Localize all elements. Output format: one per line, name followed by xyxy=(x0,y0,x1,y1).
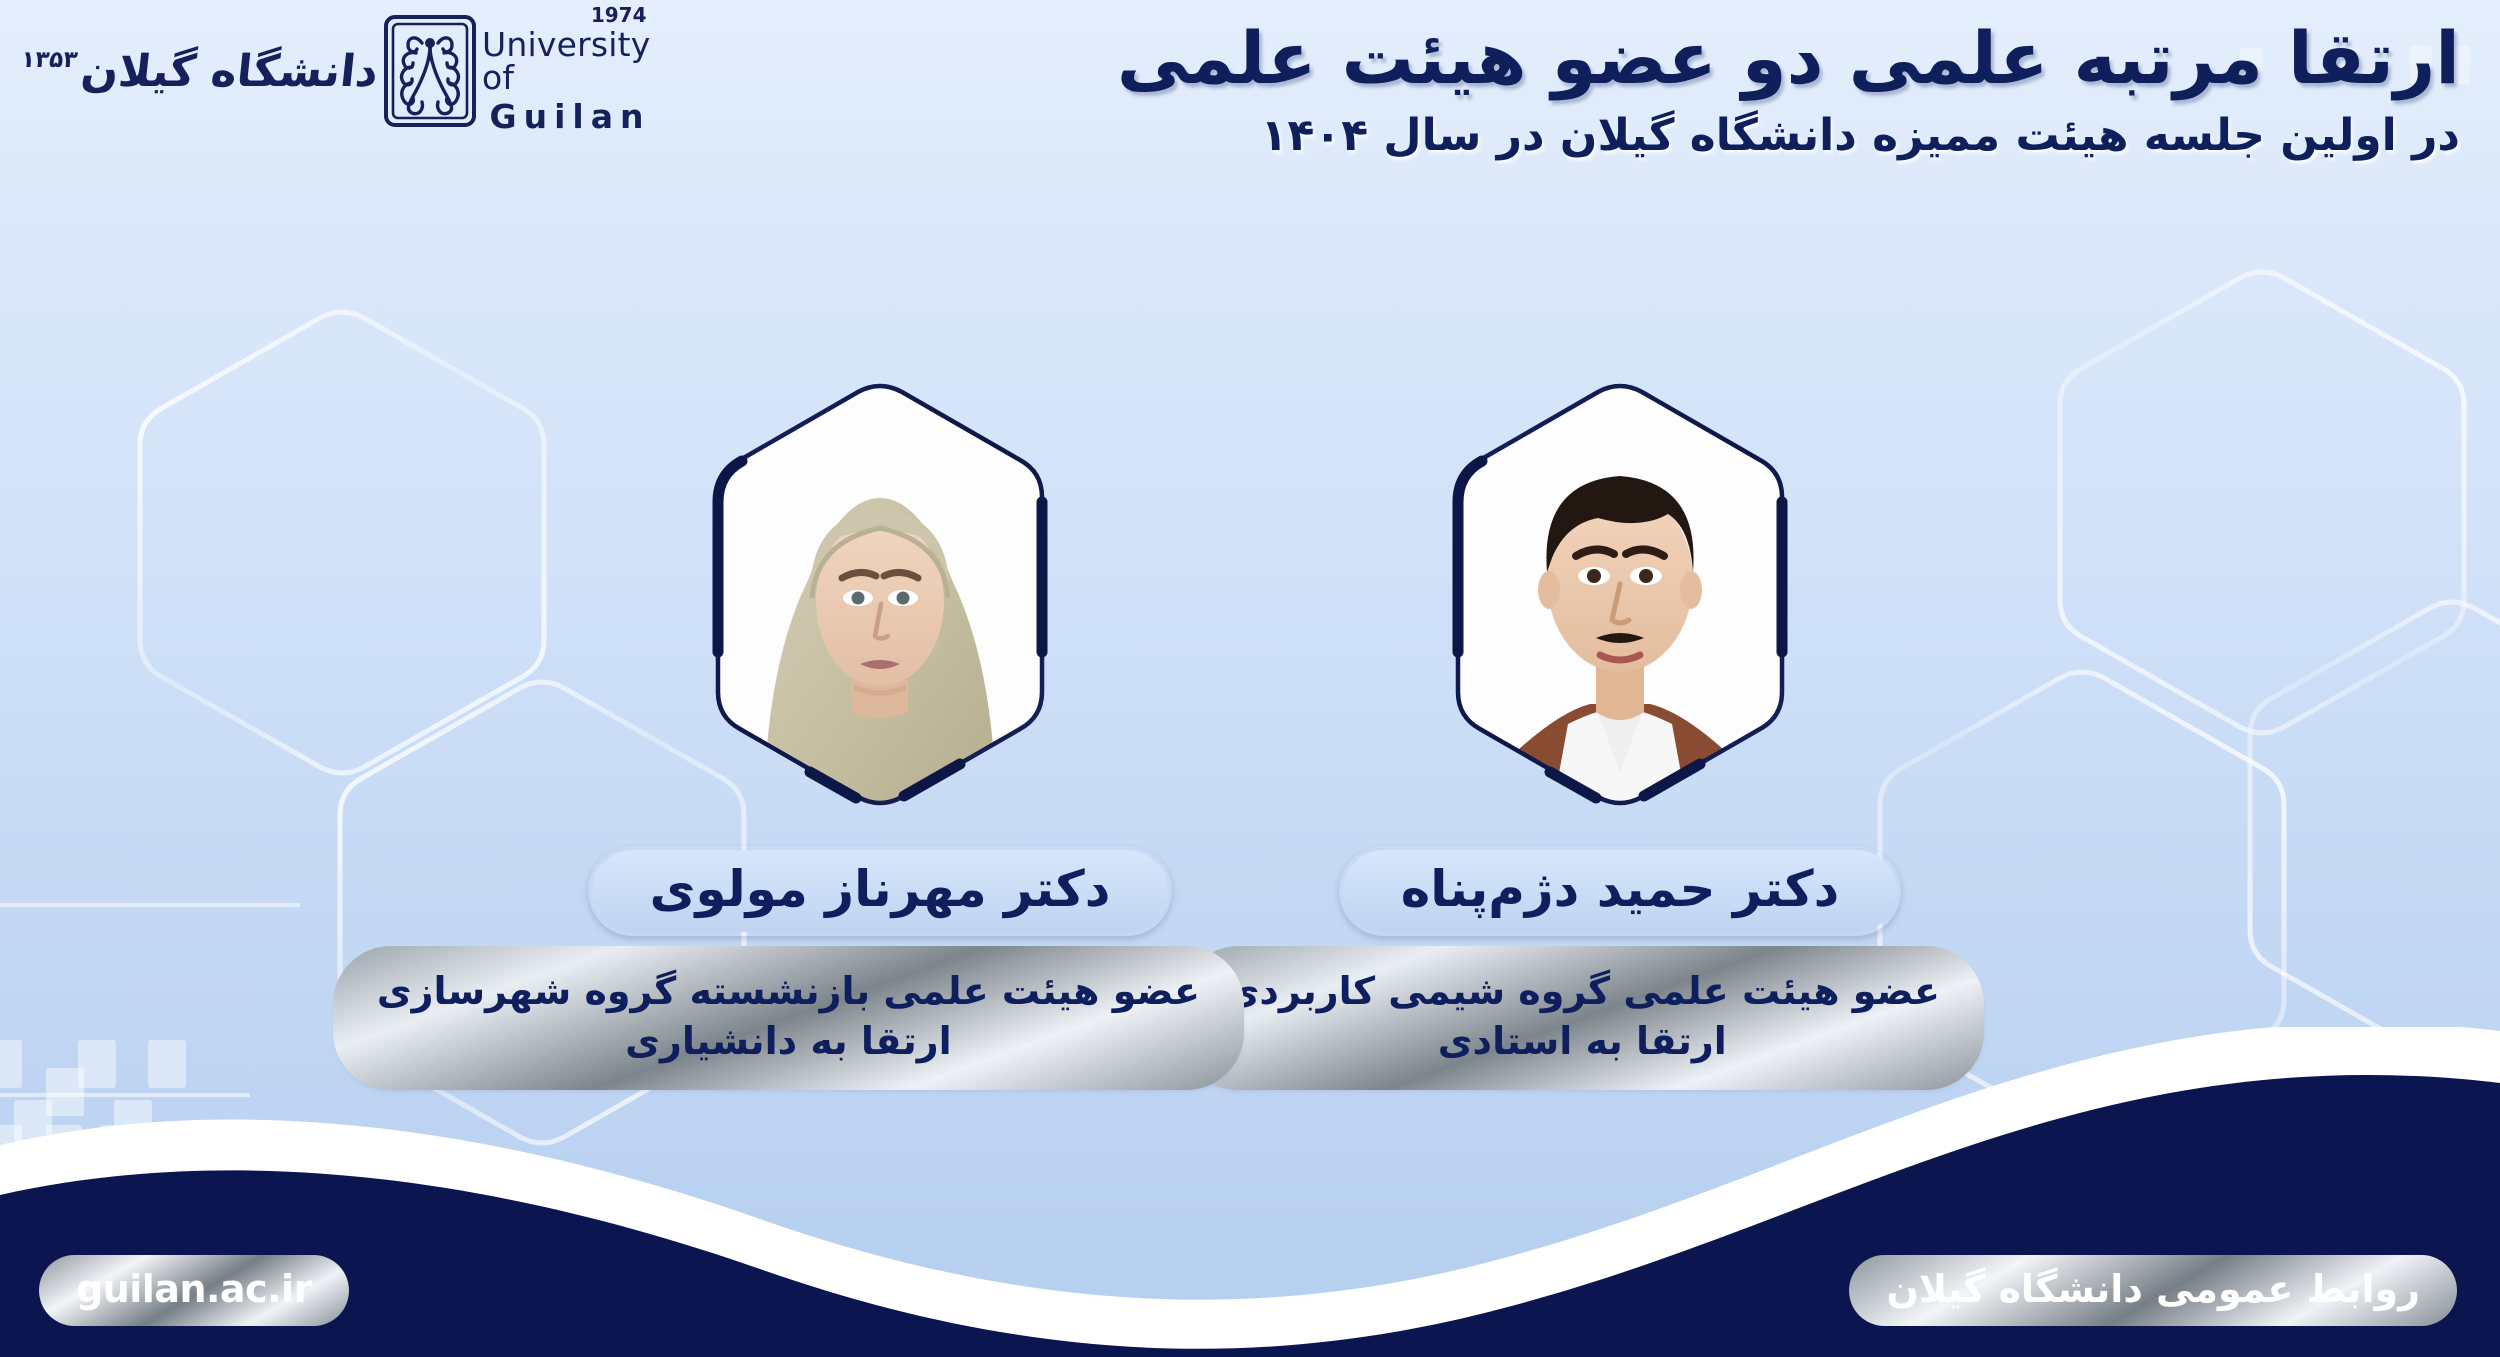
people-section: دکتر حمید دژم‌پناه عضو هیئت علمی گروه شی… xyxy=(0,352,2500,1112)
page-title: ارتقا مرتبه علمی دو عضو هیئت علمی xyxy=(1140,18,2460,99)
logo-english-wordmark: 1974 University of Guilan xyxy=(482,5,650,137)
guilan-emblem-icon xyxy=(382,13,478,129)
page-subtitle: در اولین جلسه هیئت ممیزه دانشگاه گیلان د… xyxy=(1140,111,2460,162)
logo-name-en-line2: Guilan xyxy=(490,100,651,133)
person-card-1: دکتر مهرناز مولوی عضو هیئت علمی بازنشسته… xyxy=(520,352,1240,1086)
hexagon-frame-icon xyxy=(660,352,1100,822)
person-card-0: دکتر حمید دژم‌پناه عضو هیئت علمی گروه شی… xyxy=(1260,352,1980,1086)
hexagon-frame-icon xyxy=(1400,352,1840,822)
poster-canvas: دانشگاه گیلان ۱۳۵۳ 1974 Univ xyxy=(0,0,2500,1357)
person-role-line1-1: عضو هیئت علمی بازنشسته گروه شهرسازی xyxy=(377,966,1200,1016)
university-logo[interactable]: دانشگاه گیلان ۱۳۵۳ 1974 Univ xyxy=(20,6,490,136)
portrait-photo-male xyxy=(1400,352,1840,822)
header-text-block: ارتقا مرتبه علمی دو عضو هیئت علمی در اول… xyxy=(1140,18,2460,161)
logo-year-en: 1974 xyxy=(591,5,647,25)
person-name-badge-0[interactable]: دکتر حمید دژم‌پناه xyxy=(1339,846,1901,936)
person-photo-frame-0[interactable] xyxy=(1400,352,1840,822)
person-role-line1-0: عضو هیئت علمی گروه شیمی کاربردی xyxy=(1225,966,1940,1016)
logo-persian-wordmark: دانشگاه گیلان ۱۳۵۳ xyxy=(18,49,381,94)
person-photo-frame-1[interactable] xyxy=(660,352,1100,822)
logo-year-fa: ۱۳۵۳ xyxy=(18,49,79,94)
public-relations-badge[interactable]: روابط عمومی دانشگاه گیلان xyxy=(1852,1258,2454,1323)
website-badge[interactable]: guilan.ac.ir xyxy=(42,1258,346,1323)
logo-name-en-line1: University of xyxy=(482,28,650,94)
portrait-photo-female xyxy=(660,352,1100,822)
person-name-badge-1[interactable]: دکتر مهرناز مولوی xyxy=(588,846,1173,936)
logo-name-fa: دانشگاه گیلان xyxy=(79,50,380,94)
